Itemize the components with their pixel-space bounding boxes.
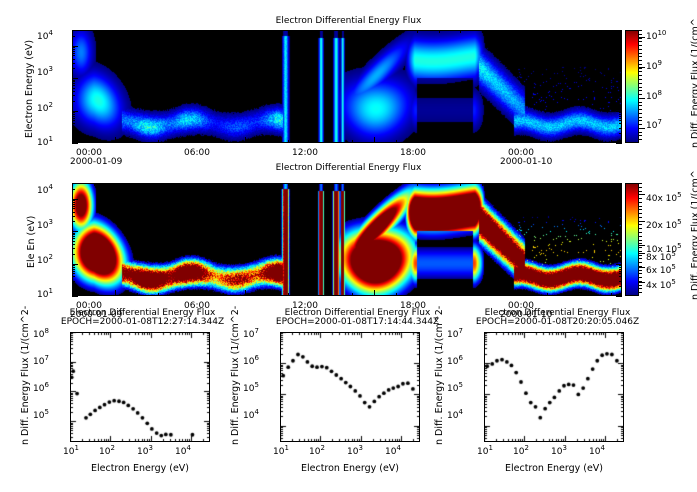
bottom-3-xlabel: Electron Energy (eV) — [474, 463, 634, 474]
bottom-3-frame — [484, 332, 624, 442]
axis-tick — [611, 293, 612, 296]
axis-tick — [72, 47, 75, 48]
bottom-2-frame — [280, 332, 420, 442]
middle-panel-title: Electron Differential Energy Flux — [0, 163, 697, 173]
axis-tick — [94, 293, 95, 296]
axis-tick — [72, 296, 78, 297]
axis-tick — [72, 83, 75, 84]
axis-tick — [288, 30, 289, 33]
colorbar-tick — [639, 288, 642, 289]
axis-tick — [223, 140, 224, 143]
colorbar-tick — [639, 198, 642, 199]
axis-tick — [223, 293, 224, 296]
axis-tick — [619, 112, 622, 113]
axis-tick — [619, 101, 622, 102]
top-ytick-2: 102 — [37, 104, 53, 114]
axis-tick — [72, 267, 75, 268]
colorbar-tick — [639, 292, 642, 293]
axis-tick — [72, 234, 75, 235]
bottom-1-ytick-6: 106 — [33, 384, 49, 394]
middle-spectrogram-frame — [72, 183, 622, 296]
colorbar-tick — [639, 277, 642, 278]
axis-tick — [619, 281, 622, 282]
axis-tick — [266, 140, 267, 143]
colorbar-tick — [639, 285, 642, 286]
middle-cbtick-40: 40x 105 — [646, 194, 682, 204]
axis-tick — [115, 30, 116, 36]
colorbar-tick — [639, 251, 642, 252]
axis-tick — [547, 183, 548, 186]
colorbar-tick — [639, 206, 642, 207]
bottom-3-ytick-7: 107 — [447, 330, 463, 340]
axis-tick — [619, 267, 622, 268]
colorbar-tick — [639, 117, 642, 118]
bottom-3-epoch: EPOCH=2000-01-08T20:20:05.046Z — [450, 317, 665, 327]
axis-tick — [525, 30, 526, 33]
axis-tick — [439, 30, 440, 33]
top-cbtick-8: 108 — [646, 92, 662, 102]
axis-tick — [72, 49, 75, 50]
axis-tick — [417, 140, 418, 143]
axis-tick — [525, 140, 526, 143]
axis-tick — [590, 30, 591, 33]
axis-tick — [352, 183, 353, 186]
axis-tick — [72, 101, 75, 102]
colorbar-tick — [639, 281, 642, 282]
bottom-2-ylabel: n Diff. Energy Flux (1/(cm^2- — [230, 306, 241, 445]
axis-tick — [72, 128, 75, 129]
colorbar-tick — [639, 109, 642, 110]
axis-tick — [72, 88, 75, 89]
axis-tick — [72, 276, 75, 277]
middle-ytick-1: 101 — [37, 290, 53, 300]
top-xtick-1: 06:00 — [184, 148, 210, 158]
axis-tick — [374, 30, 375, 36]
middle-cbtick-4: 4x 105 — [646, 281, 676, 291]
colorbar-tick — [639, 262, 642, 263]
axis-tick — [72, 271, 75, 272]
axis-tick — [288, 293, 289, 296]
axis-tick — [72, 116, 75, 117]
axis-tick — [266, 293, 267, 296]
bottom-3-ylabel: n Diff. Energy Flux (1/(cm^2- — [434, 306, 445, 445]
axis-tick — [619, 286, 622, 287]
axis-tick — [460, 30, 461, 33]
axis-tick — [201, 30, 202, 33]
colorbar-tick — [639, 41, 642, 42]
colorbar-tick — [639, 98, 642, 99]
colorbar-tick — [639, 60, 642, 61]
axis-tick — [72, 248, 75, 249]
axis-tick — [201, 183, 202, 186]
axis-tick — [590, 140, 591, 143]
middle-ytick-4: 104 — [37, 186, 53, 196]
bottom-2-xlabel: Electron Energy (eV) — [270, 463, 430, 474]
axis-tick — [619, 68, 622, 69]
axis-tick — [180, 140, 181, 143]
axis-tick — [568, 183, 569, 186]
bottom-2-xtick-3: 103 — [347, 447, 363, 457]
axis-tick — [72, 221, 75, 222]
axis-tick — [94, 30, 95, 33]
axis-tick — [590, 293, 591, 296]
axis-tick — [503, 290, 504, 296]
axis-tick — [72, 208, 75, 209]
axis-tick — [158, 140, 159, 143]
axis-tick — [331, 183, 332, 186]
axis-tick — [616, 111, 622, 112]
axis-tick — [309, 293, 310, 296]
axis-tick — [72, 183, 75, 184]
axis-tick — [266, 183, 267, 186]
axis-tick — [331, 30, 332, 33]
axis-tick — [619, 233, 622, 234]
colorbar-tick — [639, 202, 642, 203]
axis-tick — [460, 140, 461, 143]
top-ytick-4: 104 — [37, 32, 53, 42]
bottom-3-ytick-6: 106 — [447, 357, 463, 367]
axis-tick — [619, 273, 622, 274]
axis-tick — [288, 183, 289, 186]
axis-tick — [72, 281, 75, 282]
axis-tick — [417, 30, 418, 33]
axis-tick — [245, 137, 246, 143]
axis-tick — [72, 120, 75, 121]
axis-tick — [619, 83, 622, 84]
axis-tick — [72, 59, 75, 60]
colorbar-tick — [639, 34, 642, 35]
colorbar-tick — [639, 87, 642, 88]
bottom-2-xtick-4: 104 — [385, 447, 401, 457]
axis-tick — [568, 293, 569, 296]
axis-tick — [619, 269, 622, 270]
colorbar-tick — [639, 232, 642, 233]
axis-tick — [590, 183, 591, 186]
bottom-2-ytick-7: 107 — [243, 330, 259, 340]
axis-tick — [72, 53, 75, 54]
axis-tick — [616, 296, 622, 297]
top-cbtick-7: 107 — [646, 121, 662, 131]
axis-tick — [417, 183, 418, 186]
bottom-1-ytick-7: 107 — [33, 357, 49, 367]
axis-tick — [619, 91, 622, 92]
colorbar-tick — [639, 75, 642, 76]
axis-tick — [245, 290, 246, 296]
colorbar-tick — [639, 213, 642, 214]
axis-tick — [180, 293, 181, 296]
axis-tick — [72, 264, 78, 265]
axis-tick — [72, 55, 75, 56]
middle-colorbar-frame — [625, 183, 639, 296]
axis-tick — [619, 63, 622, 64]
axis-tick — [72, 51, 75, 52]
colorbar-tick — [639, 53, 642, 54]
top-colorbar-frame — [625, 30, 639, 143]
axis-tick — [72, 81, 75, 82]
colorbar-tick — [639, 191, 642, 192]
axis-tick — [396, 140, 397, 143]
colorbar-tick — [639, 245, 645, 246]
bottom-1-xtick-3: 103 — [137, 447, 153, 457]
axis-tick — [72, 286, 75, 287]
axis-tick — [547, 30, 548, 33]
axis-tick — [72, 133, 75, 134]
axis-tick — [619, 53, 622, 54]
axis-tick — [115, 137, 116, 143]
bottom-3-xtick-4: 104 — [589, 447, 605, 457]
colorbar-tick — [639, 45, 642, 46]
colorbar-tick — [639, 221, 642, 222]
axis-tick — [201, 293, 202, 296]
axis-tick — [616, 231, 622, 232]
axis-tick — [137, 293, 138, 296]
bottom-1-frame — [70, 332, 210, 442]
bottom-2-xtick-2: 102 — [309, 447, 325, 457]
axis-tick — [72, 206, 75, 207]
axis-tick — [72, 143, 78, 144]
colorbar-tick — [639, 128, 642, 129]
axis-tick — [309, 183, 310, 186]
axis-tick — [266, 30, 267, 33]
axis-tick — [619, 276, 622, 277]
top-xtick-3: 18:00 — [400, 148, 426, 158]
axis-tick — [72, 233, 75, 234]
bottom-3-ytick-4: 104 — [447, 411, 463, 421]
axis-tick — [72, 244, 75, 245]
colorbar-tick — [639, 132, 642, 133]
axis-tick — [619, 234, 622, 235]
bottom-1-ylabel: n Diff. Energy Flux (1/(cm^2- — [20, 306, 31, 445]
axis-tick — [137, 30, 138, 33]
axis-tick — [331, 293, 332, 296]
axis-tick — [72, 241, 75, 242]
colorbar-tick — [639, 247, 642, 248]
middle-cbtick-8: 8x 105 — [646, 253, 676, 263]
axis-tick — [619, 114, 622, 115]
axis-tick — [72, 238, 75, 239]
bottom-2-ytick-4: 104 — [243, 411, 259, 421]
axis-tick — [331, 140, 332, 143]
axis-tick — [619, 189, 622, 190]
axis-tick — [72, 236, 75, 237]
axis-tick — [619, 80, 622, 81]
axis-tick — [547, 140, 548, 143]
axis-tick — [460, 293, 461, 296]
axis-tick — [525, 183, 526, 186]
axis-tick — [611, 183, 612, 186]
middle-cbtick-6: 6x 105 — [646, 266, 676, 276]
axis-tick — [245, 30, 246, 36]
axis-tick — [72, 189, 75, 190]
axis-tick — [72, 111, 78, 112]
axis-tick — [309, 30, 310, 33]
axis-tick — [568, 140, 569, 143]
colorbar-tick — [639, 90, 642, 91]
axis-tick — [180, 183, 181, 186]
colorbar-tick — [639, 236, 642, 237]
axis-tick — [619, 254, 622, 255]
axis-tick — [619, 206, 622, 207]
axis-tick — [619, 244, 622, 245]
axis-tick — [568, 30, 569, 33]
axis-tick — [616, 78, 622, 79]
axis-tick — [503, 30, 504, 36]
colorbar-tick — [639, 68, 642, 69]
axis-tick — [72, 269, 75, 270]
axis-tick — [417, 293, 418, 296]
colorbar-tick — [639, 30, 642, 31]
axis-tick — [352, 30, 353, 33]
colorbar-tick — [639, 270, 642, 271]
colorbar-tick — [639, 273, 642, 274]
colorbar-tick — [639, 217, 642, 218]
axis-tick — [619, 120, 622, 121]
axis-tick — [619, 183, 622, 184]
colorbar-tick — [639, 266, 642, 267]
axis-tick — [619, 265, 622, 266]
axis-tick — [158, 183, 159, 186]
colorbar-tick — [639, 64, 642, 65]
axis-tick — [72, 85, 75, 86]
colorbar-tick — [639, 255, 642, 256]
axis-tick — [619, 236, 622, 237]
axis-tick — [72, 199, 78, 200]
top-cbtick-9: 109 — [646, 62, 662, 72]
colorbar-tick — [639, 228, 642, 229]
axis-tick — [374, 137, 375, 143]
axis-tick — [616, 143, 622, 144]
axis-tick — [245, 183, 246, 189]
axis-tick — [619, 238, 622, 239]
axis-tick — [619, 128, 622, 129]
axis-tick — [72, 200, 75, 201]
axis-tick — [619, 212, 622, 213]
axis-tick — [396, 293, 397, 296]
colorbar-tick — [639, 71, 642, 72]
axis-tick — [72, 216, 75, 217]
axis-tick — [619, 85, 622, 86]
axis-tick — [619, 221, 622, 222]
axis-tick — [482, 140, 483, 143]
top-ytick-1: 101 — [37, 138, 53, 148]
axis-tick — [72, 36, 75, 37]
axis-tick — [619, 202, 622, 203]
axis-tick — [619, 116, 622, 117]
axis-tick — [619, 59, 622, 60]
axis-tick — [616, 46, 622, 47]
axis-tick — [619, 133, 622, 134]
axis-tick — [619, 88, 622, 89]
middle-panel-ylabel: Ele En (eV) — [26, 216, 37, 268]
axis-tick — [619, 55, 622, 56]
bottom-1-xlabel: Electron Energy (eV) — [60, 463, 220, 474]
axis-tick — [547, 293, 548, 296]
colorbar-tick — [639, 79, 642, 80]
axis-tick — [72, 265, 75, 266]
colorbar-tick — [639, 240, 642, 241]
top-cbtick-10: 1010 — [646, 32, 666, 42]
axis-tick — [158, 293, 159, 296]
axis-tick — [72, 118, 75, 119]
axis-tick — [137, 140, 138, 143]
colorbar-tick — [639, 135, 642, 136]
axis-tick — [72, 30, 75, 31]
colorbar-tick — [639, 120, 642, 121]
axis-tick — [115, 290, 116, 296]
colorbar-tick — [639, 56, 642, 57]
axis-tick — [619, 241, 622, 242]
axis-tick — [396, 30, 397, 33]
axis-tick — [72, 91, 75, 92]
colorbar-tick — [639, 113, 642, 114]
axis-tick — [611, 140, 612, 143]
axis-tick — [616, 199, 622, 200]
axis-tick — [72, 212, 75, 213]
top-ytick-3: 103 — [37, 68, 53, 78]
axis-tick — [619, 248, 622, 249]
axis-tick — [619, 47, 622, 48]
colorbar-tick — [639, 224, 642, 225]
axis-tick — [72, 46, 78, 47]
axis-tick — [72, 202, 75, 203]
axis-tick — [619, 204, 622, 205]
bottom-1-ytick-8: 108 — [33, 330, 49, 340]
middle-ytick-2: 102 — [37, 256, 53, 266]
axis-tick — [619, 36, 622, 37]
axis-tick — [439, 293, 440, 296]
axis-tick — [72, 95, 75, 96]
axis-tick — [482, 30, 483, 33]
axis-tick — [396, 183, 397, 186]
axis-tick — [72, 254, 75, 255]
axis-tick — [309, 140, 310, 143]
colorbar-tick — [639, 194, 642, 195]
axis-tick — [223, 183, 224, 186]
axis-tick — [460, 183, 461, 186]
axis-tick — [72, 123, 75, 124]
axis-tick — [72, 112, 75, 113]
axis-tick — [223, 30, 224, 33]
colorbar-tick — [639, 124, 642, 125]
axis-tick — [619, 95, 622, 96]
axis-tick — [72, 63, 75, 64]
axis-tick — [619, 81, 622, 82]
colorbar-tick — [639, 243, 642, 244]
bottom-2-xtick-1: 101 — [273, 447, 289, 457]
axis-tick — [503, 137, 504, 143]
axis-tick — [616, 264, 622, 265]
axis-tick — [619, 208, 622, 209]
axis-tick — [439, 183, 440, 186]
colorbar-tick — [639, 38, 642, 39]
top-xtick-2: 12:00 — [292, 148, 318, 158]
bottom-1-ytick-5: 105 — [33, 411, 49, 421]
middle-cbtick-20: 20x 105 — [646, 221, 682, 231]
axis-tick — [619, 49, 622, 50]
axis-tick — [137, 183, 138, 186]
top-colorbar-label: n Diff. Energy Flux (1/(cm^ — [690, 18, 697, 148]
bottom-2-ytick-5: 105 — [243, 384, 259, 394]
colorbar-tick — [639, 282, 645, 283]
axis-tick — [525, 293, 526, 296]
axis-tick — [72, 80, 75, 81]
axis-tick — [619, 216, 622, 217]
axis-tick — [503, 183, 504, 189]
axis-tick — [352, 293, 353, 296]
axis-tick — [158, 30, 159, 33]
bottom-3-xtick-3: 103 — [551, 447, 567, 457]
bottom-3-xtick-1: 101 — [477, 447, 493, 457]
